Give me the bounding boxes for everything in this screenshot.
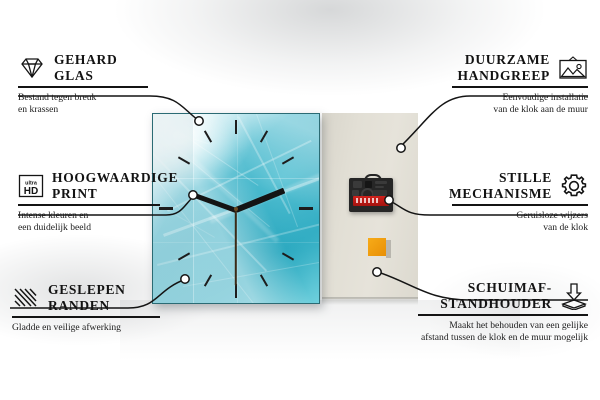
feature-title: DUURZAME HANDGREEP [457, 52, 550, 83]
clock-center-pin [234, 207, 238, 211]
clock-tick [204, 130, 212, 142]
mechanism-battery [353, 196, 389, 206]
clock-tick [235, 120, 237, 134]
feature-title: SCHUIMAF- STANDHOUDER [440, 280, 552, 311]
mechanism-body [349, 178, 393, 212]
clock-tick [260, 274, 268, 286]
divider [18, 86, 148, 88]
feature-subtitle: Eenvoudige installatie van de klok aan d… [452, 92, 588, 115]
feature-subtitle: Gladde en veilige afwerking [12, 322, 160, 334]
clock-tick [235, 284, 237, 298]
diamond-icon [18, 56, 46, 80]
divider [418, 314, 588, 316]
feature-subtitle: Intense kleuren en een duidelijk beeld [18, 210, 160, 233]
ultra-hd-icon: ultra HD [18, 173, 44, 199]
feature-title: GEHARD GLAS [54, 52, 117, 83]
clock-tick [159, 207, 173, 210]
infographic-canvas: GEHARD GLAS Bestand tegen breuk en krass… [0, 0, 600, 400]
clock-mechanism [349, 174, 393, 212]
feature-geslepen-randen: GESLEPEN RANDEN Gladde en veilige afwerk… [12, 282, 160, 334]
product-photo [152, 86, 332, 282]
spacer-pad [368, 238, 386, 256]
clock-hour-hand [235, 188, 285, 213]
beveled-edges-icon [12, 286, 40, 310]
feature-duurzame-handgreep: DUURZAME HANDGREEP Eenvoudige installati… [452, 52, 588, 115]
feature-title: STILLE MECHANISME [449, 170, 552, 201]
divider [452, 86, 588, 88]
feature-title: GESLEPEN RANDEN [48, 282, 126, 313]
feature-gehard-glas: GEHARD GLAS Bestand tegen breuk en krass… [18, 52, 148, 115]
feature-stille-mechanisme: STILLE MECHANISME Geruisloze wijzers van… [452, 170, 588, 233]
feature-hoogwaardige-print: ultra HD HOOGWAARDIGE PRINT Intense kleu… [18, 170, 160, 233]
svg-text:HD: HD [24, 186, 38, 197]
clock-tick [282, 252, 294, 260]
feature-title: HOOGWAARDIGE PRINT [52, 170, 178, 201]
divider [452, 204, 588, 206]
clock-tick [282, 156, 294, 164]
feature-subtitle: Maakt het behouden van een gelijke afsta… [418, 320, 588, 343]
feature-subtitle: Bestand tegen breuk en krassen [18, 92, 148, 115]
clock-tick [299, 207, 313, 210]
picture-frame-icon [558, 56, 588, 80]
gear-icon [560, 172, 588, 200]
clock-face [152, 113, 320, 304]
divider [12, 316, 160, 318]
divider [18, 204, 160, 206]
spacer-pad-shadow [386, 240, 391, 258]
feature-schuimaf-standhouder: SCHUIMAF- STANDHOUDER Maakt het behouden… [418, 280, 588, 343]
feature-subtitle: Geruisloze wijzers van de klok [452, 210, 588, 233]
clock-second-hand [235, 210, 237, 286]
battery-positive-tip [386, 197, 390, 204]
arrow-onto-pad-icon [560, 282, 588, 310]
